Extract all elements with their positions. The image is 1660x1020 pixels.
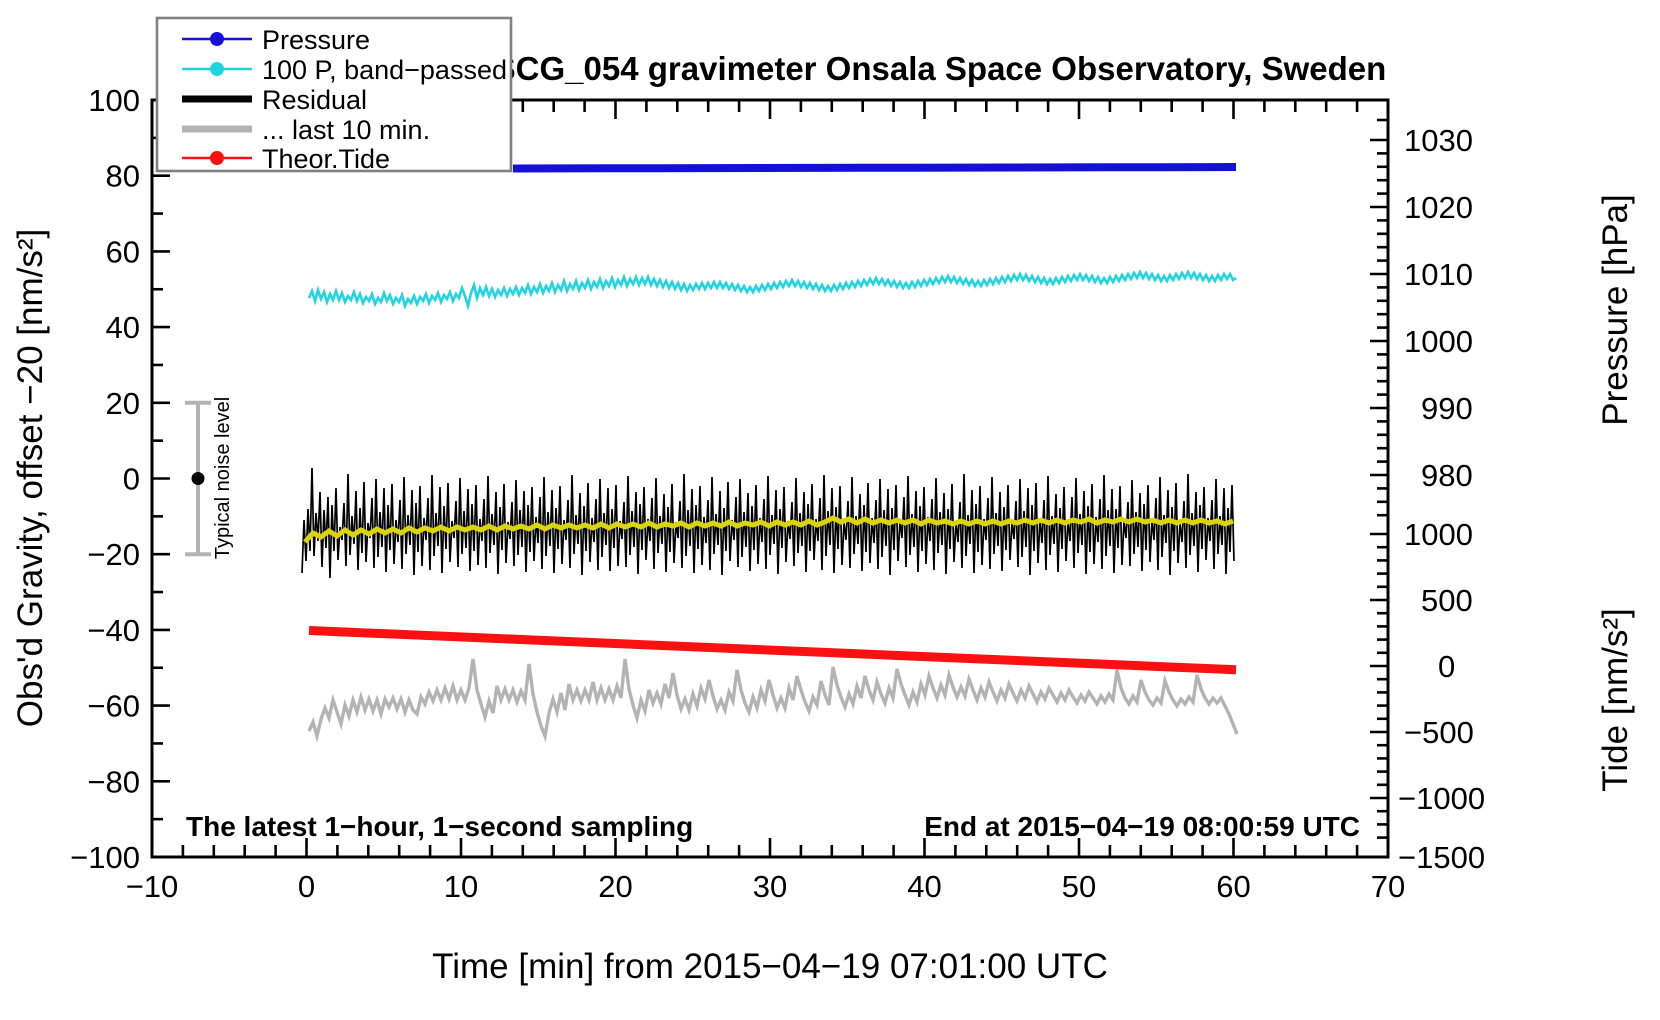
noise-level-label: Typical noise level xyxy=(212,397,234,559)
y-left-tick-label: −40 xyxy=(87,613,140,648)
y-right-tide-axis-title: Tide [nm/s²] xyxy=(1596,608,1635,791)
tide-tick-label: 1000 xyxy=(1404,517,1473,552)
pressure-tick-label: 1020 xyxy=(1404,190,1473,225)
x-tick-label: 0 xyxy=(298,869,315,904)
legend-label: 100 P, band−passed xyxy=(262,55,507,85)
x-tick-label: 60 xyxy=(1216,869,1250,904)
x-tick-label: 50 xyxy=(1062,869,1096,904)
y-left-tick-label: 20 xyxy=(106,386,140,421)
y-left-tick-label: 100 xyxy=(88,83,140,118)
x-tick-label: 10 xyxy=(444,869,478,904)
tide-tick-label: 0 xyxy=(1438,649,1455,684)
x-axis-title: Time [min] from 2015−04−19 07:01:00 UTC xyxy=(432,947,1108,986)
y-left-tick-label: 80 xyxy=(106,159,140,194)
legend-marker-theor-tide xyxy=(210,151,224,165)
pressure-tick-label: 980 xyxy=(1421,458,1473,493)
legend: Pressure 100 P, band−passed Residual ...… xyxy=(157,18,511,174)
pressure-tick-label: 1010 xyxy=(1404,257,1473,292)
pressure-tick-label: 1030 xyxy=(1404,123,1473,158)
x-tick-label: 20 xyxy=(598,869,632,904)
tide-tick-label: −500 xyxy=(1404,715,1474,750)
y-right-pressure-axis-title: Pressure [hPa] xyxy=(1596,194,1635,426)
tide-tick-label: 500 xyxy=(1421,583,1473,618)
legend-label: ... last 10 min. xyxy=(262,115,430,145)
chart-svg: 100 80 60 40 20 0 −20 −40 −60 −80 −100 O… xyxy=(0,0,1660,1020)
gravimeter-chart-figure: 100 80 60 40 20 0 −20 −40 −60 −80 −100 O… xyxy=(0,0,1660,1020)
y-left-tick-label: −20 xyxy=(87,537,140,572)
page-title: SCG_054 gravimeter Onsala Space Observat… xyxy=(494,50,1387,87)
pressure-tick-label: 1000 xyxy=(1404,324,1473,359)
legend-label: Residual xyxy=(262,85,367,115)
y-left-tick-label: −80 xyxy=(87,764,140,799)
y-left-tick-label: 0 xyxy=(123,462,140,497)
legend-marker-pressure xyxy=(210,32,224,46)
sampling-annotation: The latest 1−hour, 1−second sampling xyxy=(186,811,693,842)
x-tick-label: 30 xyxy=(753,869,787,904)
legend-label: Theor.Tide xyxy=(262,144,390,174)
legend-label: Pressure xyxy=(262,25,370,55)
y-left-tick-label: 60 xyxy=(106,234,140,269)
tide-tick-label: −1500 xyxy=(1398,840,1485,875)
y-left-axis-title: Obs'd Gravity, offset −20 [nm/s²] xyxy=(11,229,50,728)
end-time-annotation: End at 2015−04−19 08:00:59 UTC xyxy=(924,811,1360,842)
x-tick-label: 40 xyxy=(907,869,941,904)
series-pressure xyxy=(513,167,1236,169)
x-tick-label: −10 xyxy=(126,869,179,904)
legend-marker-band-passed xyxy=(210,62,224,76)
tide-tick-label: −1000 xyxy=(1398,781,1485,816)
pressure-tick-label: 990 xyxy=(1421,391,1473,426)
y-left-tick-label: 40 xyxy=(106,310,140,345)
y-left-tick-label: −60 xyxy=(87,689,140,724)
